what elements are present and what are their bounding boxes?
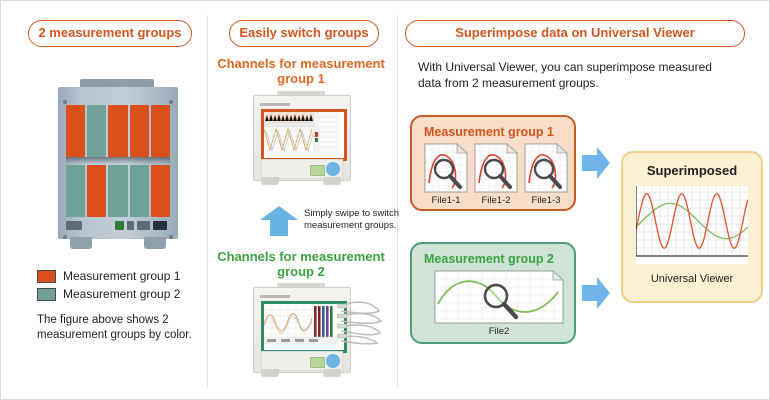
recorder-waveform-display: [264, 112, 338, 152]
recorder-group-2: [253, 283, 349, 379]
module-row-shadow: [66, 157, 170, 164]
recorder-start-button[interactable]: [310, 357, 325, 368]
swipe-note-text: Simply swipe to switch measurement group…: [304, 208, 400, 232]
legend-swatch-group-1: [37, 270, 56, 283]
recorder-menu-button[interactable]: [326, 354, 340, 368]
legend-label-group-2: Measurement group 2: [63, 287, 180, 301]
file-name: File1-2: [474, 195, 518, 206]
file-name: File1-3: [524, 195, 568, 206]
measurement-recorder-chassis: [58, 79, 178, 253]
recorder-menu-button[interactable]: [326, 162, 340, 176]
file-thumbnail: [474, 143, 518, 193]
recorder-waveform-display: [264, 304, 338, 344]
file-item[interactable]: File2: [434, 270, 564, 337]
recorder-case: [253, 95, 351, 181]
module-row-top: [66, 105, 170, 157]
badge-easily-switch-groups: Easily switch groups: [229, 20, 379, 47]
legend-item-group-1: Measurement group 1: [37, 269, 180, 283]
measurement-group-2-box: Measurement group 2: [410, 242, 576, 344]
right-panel-description: With Universal Viewer, you can superimpo…: [418, 59, 738, 91]
recorder-control-panel: [261, 351, 343, 371]
chassis-screw-icon: [169, 235, 173, 239]
viewer-title: Superimposed: [623, 163, 761, 178]
module-slot: [87, 165, 106, 217]
chassis-screw-icon: [63, 235, 67, 239]
badge-measurement-groups: 2 measurement groups: [28, 20, 192, 47]
chassis-body: [58, 87, 178, 239]
recorder-screen-group-2[interactable]: [261, 301, 347, 353]
chassis-foot: [70, 237, 92, 249]
port-spacer: [85, 221, 97, 230]
recorder-foot: [323, 177, 341, 185]
badge-superimpose-universal-viewer: Superimpose data on Universal Viewer: [405, 20, 745, 47]
recorder-brand-label: [260, 103, 290, 106]
legend-label-group-1: Measurement group 1: [63, 269, 180, 283]
module-slot: [130, 105, 149, 157]
group-1-file-list: File1-1: [424, 143, 568, 206]
arrow-right-icon: [581, 146, 611, 180]
file-item[interactable]: File1-1: [424, 143, 468, 206]
universal-viewer-panel: Superimposed: [621, 151, 763, 303]
module-slot: [151, 105, 170, 157]
module-slot: [108, 105, 127, 157]
expansion-port-icon: [153, 221, 167, 230]
recorder-foot: [261, 177, 279, 185]
recorder-control-panel: [261, 159, 343, 179]
recorder-screen-group-1[interactable]: [261, 109, 347, 161]
recorder-foot: [323, 369, 341, 377]
recorder-foot: [261, 369, 279, 377]
legend-item-group-2: Measurement group 2: [37, 287, 180, 301]
terminal-block-icon: [115, 221, 124, 230]
module-row-bottom: [66, 165, 170, 217]
serial-port-icon: [137, 221, 150, 230]
middle-title-group-2: Channels for measurement group 2: [206, 249, 396, 279]
serial-port-icon: [66, 221, 82, 230]
chassis-foot: [144, 237, 166, 249]
module-slot: [66, 105, 85, 157]
group-2-file-list: File2: [434, 270, 564, 337]
file-item[interactable]: File1-2: [474, 143, 518, 206]
file-name: File1-1: [424, 195, 468, 206]
recorder-start-button[interactable]: [310, 165, 325, 176]
middle-title-group-1: Channels for measurement group 1: [206, 56, 396, 86]
recorder-brand-label: [260, 295, 290, 298]
module-slot: [130, 165, 149, 217]
swipe-up-arrow-icon: [259, 205, 299, 237]
chassis-port-strip: [66, 219, 170, 231]
superimposed-chart-svg: [636, 186, 748, 264]
measurement-group-2-label: Measurement group 2: [424, 252, 554, 266]
arrow-right-icon: [581, 276, 611, 310]
chassis-screw-icon: [169, 100, 173, 104]
file-thumbnail: [424, 143, 468, 193]
file-thumbnail: [524, 143, 568, 193]
file-name: File2: [434, 326, 564, 337]
recorder-group-1: [253, 91, 349, 187]
module-slot: [108, 165, 127, 217]
module-slot: [151, 165, 170, 217]
sensor-cables-icon: [337, 299, 383, 347]
viewer-caption: Universal Viewer: [623, 273, 761, 285]
ethernet-port-icon: [127, 221, 134, 230]
port-spacer: [100, 221, 112, 230]
column-divider-right: [397, 15, 398, 387]
measurement-group-1-box: Measurement group 1: [410, 115, 576, 211]
module-slot: [87, 105, 106, 157]
chassis-screw-icon: [63, 100, 67, 104]
infographic-page: 2 measurement groups Easily switch group…: [0, 0, 770, 400]
legend-swatch-group-2: [37, 288, 56, 301]
file-thumbnail: [434, 270, 564, 324]
file-item[interactable]: File1-3: [524, 143, 568, 206]
measurement-group-1-label: Measurement group 1: [424, 125, 554, 139]
legend: Measurement group 1 Measurement group 2: [37, 269, 180, 305]
left-panel-caption: The figure above shows 2 measurement gro…: [37, 313, 217, 343]
superimposed-chart: [636, 186, 748, 264]
module-slot: [66, 165, 85, 217]
